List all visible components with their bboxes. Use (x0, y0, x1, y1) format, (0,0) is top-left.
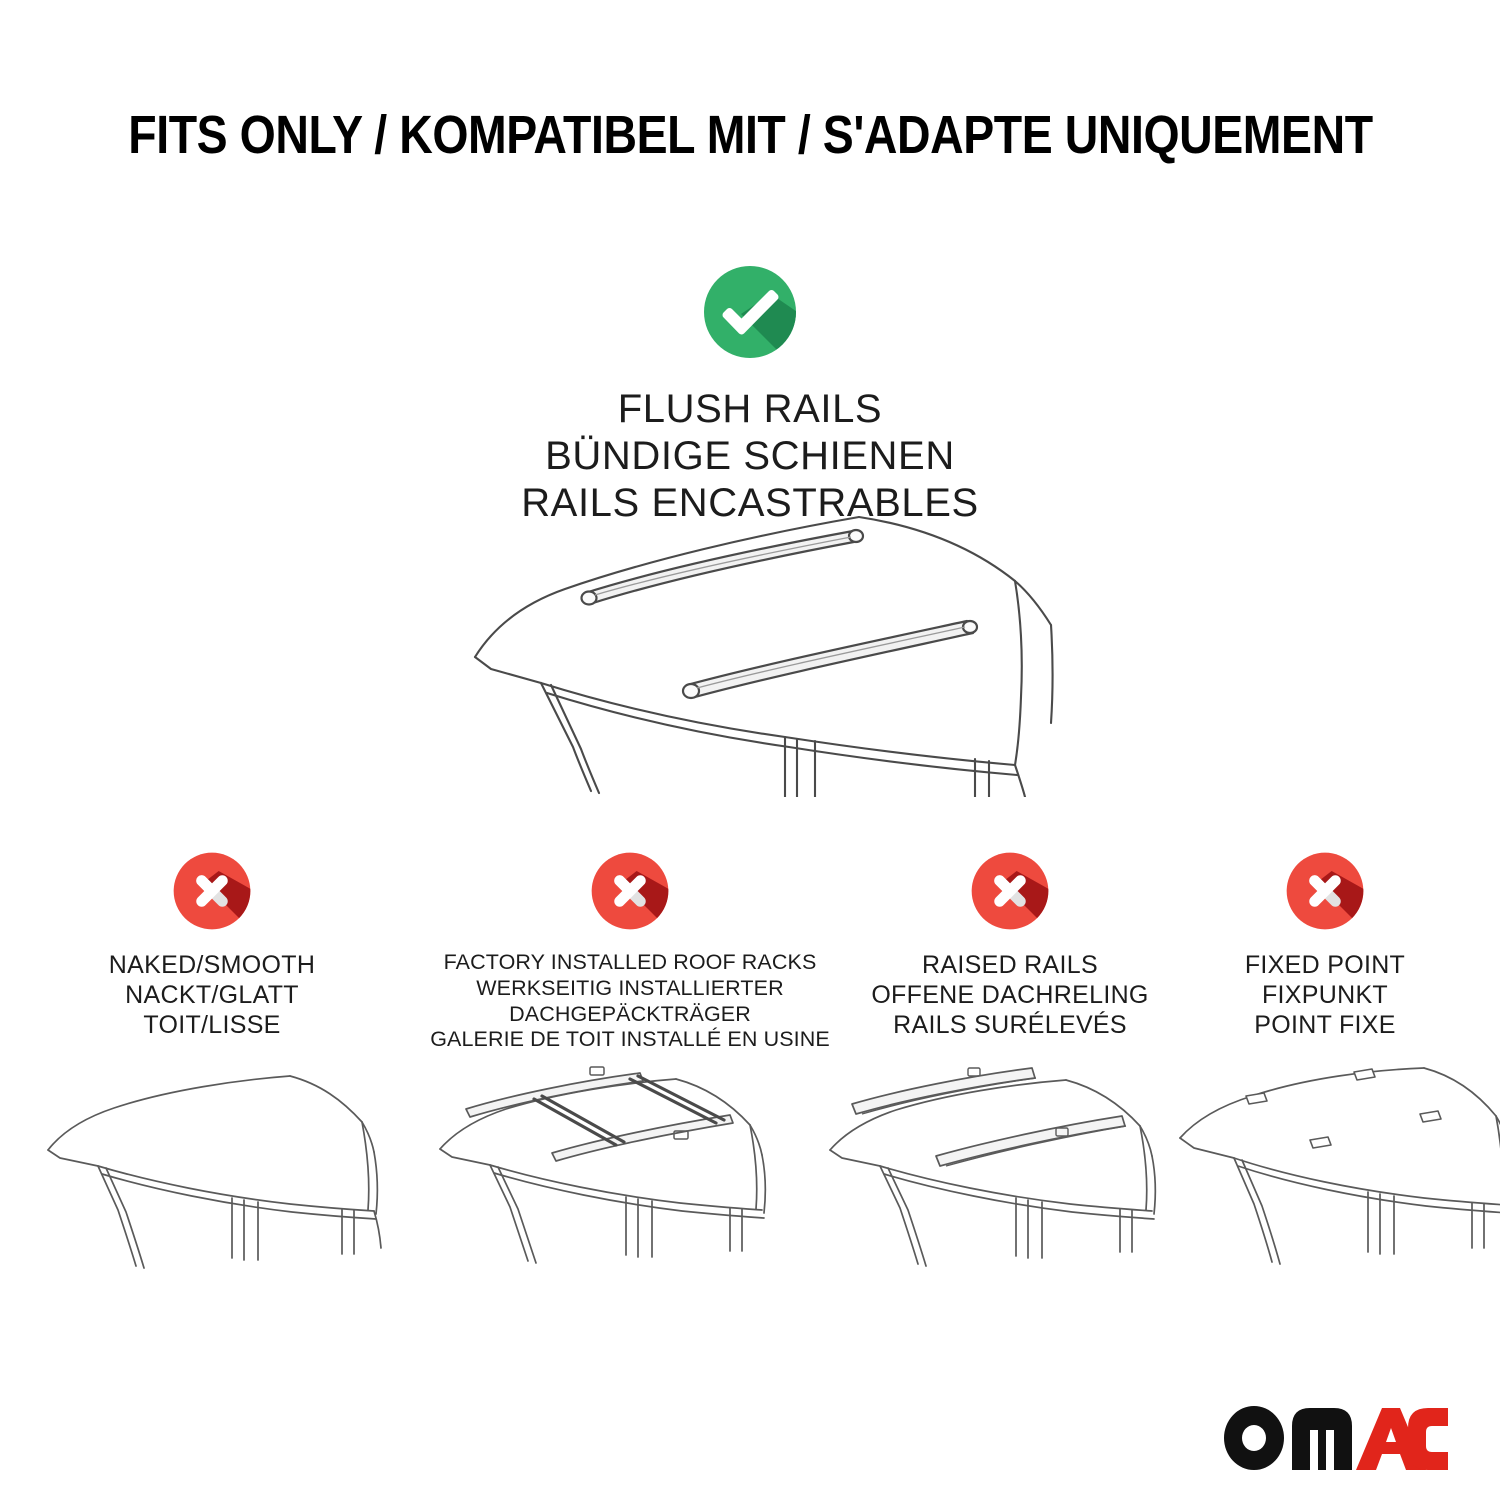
option-label-line-en: FACTORY INSTALLED ROOF RACKS (400, 950, 860, 976)
cross-circle-icon (585, 846, 675, 936)
logo-letter-c (1408, 1408, 1448, 1470)
page-title-text: FITS ONLY / KOMPATIBEL MIT / S'ADAPTE UN… (128, 104, 1372, 166)
incompatible-options-row: NAKED/SMOOTH NACKT/GLATT TOIT/LISSE FACT… (0, 846, 1500, 1066)
option-label-line-de: NACKT/GLATT (32, 980, 392, 1010)
cross-circle-icon (167, 846, 257, 936)
car-roof-flush-rails-illustration (455, 497, 1055, 797)
compatible-heading-line-de: BÜNDIGE SCHIENEN (0, 433, 1500, 480)
cross-circle-icon (1280, 846, 1370, 936)
page-title: FITS ONLY / KOMPATIBEL MIT / S'ADAPTE UN… (0, 104, 1500, 166)
option-label-line-en: RAISED RAILS (830, 950, 1190, 980)
compatible-heading-line-en: FLUSH RAILS (0, 386, 1500, 433)
flush-rail-front (683, 621, 977, 698)
compatible-section: FLUSH RAILS BÜNDIGE SCHIENEN RAILS ENCAS… (0, 258, 1500, 526)
option-label-line-de: FIXPUNKT (1165, 980, 1485, 1010)
option-label-line-fr: TOIT/LISSE (32, 1010, 392, 1040)
incompatible-option-naked-smooth: NAKED/SMOOTH NACKT/GLATT TOIT/LISSE (32, 846, 392, 1040)
option-label-line-fr: GALERIE DE TOIT INSTALLÉ EN USINE (400, 1027, 860, 1053)
option-label: FIXED POINT FIXPUNKT POINT FIXE (1165, 950, 1485, 1040)
option-label-line-en: FIXED POINT (1165, 950, 1485, 980)
option-label-line-fr: POINT FIXE (1165, 1010, 1485, 1040)
cross-circle-icon (965, 846, 1055, 936)
check-circle-icon (696, 258, 804, 366)
option-label: RAISED RAILS OFFENE DACHRELING RAILS SUR… (830, 950, 1190, 1040)
option-label: NAKED/SMOOTH NACKT/GLATT TOIT/LISSE (32, 950, 392, 1040)
omac-logo (1222, 1404, 1450, 1472)
incompatible-option-factory-roof-rack: FACTORY INSTALLED ROOF RACKS WERKSEITIG … (400, 846, 860, 1053)
option-label-line-de: OFFENE DACHRELING (830, 980, 1190, 1010)
option-label-line-de-2: DACHGEPÄCKTRÄGER (400, 1002, 860, 1028)
car-roof-fixed-point-illustration (1168, 1058, 1500, 1268)
option-label-line-en: NAKED/SMOOTH (32, 950, 392, 980)
flush-rail-rear (582, 530, 864, 605)
car-roof-factory-roof-rack-illustration (430, 1055, 790, 1265)
logo-letter-o (1224, 1406, 1284, 1470)
option-label-line-fr: RAILS SURÉLEVÉS (830, 1010, 1190, 1040)
incompatible-option-raised-rails: RAISED RAILS OFFENE DACHRELING RAILS SUR… (830, 846, 1190, 1040)
car-roof-naked-smooth-illustration (42, 1062, 402, 1272)
car-roof-raised-rails-illustration (818, 1058, 1178, 1268)
option-label: FACTORY INSTALLED ROOF RACKS WERKSEITIG … (400, 950, 860, 1053)
logo-letter-m (1292, 1408, 1352, 1470)
fitment-infographic: FITS ONLY / KOMPATIBEL MIT / S'ADAPTE UN… (0, 0, 1500, 1500)
incompatible-option-fixed-point: FIXED POINT FIXPUNKT POINT FIXE (1165, 846, 1485, 1040)
option-label-line-de-1: WERKSEITIG INSTALLIERTER (400, 976, 860, 1002)
